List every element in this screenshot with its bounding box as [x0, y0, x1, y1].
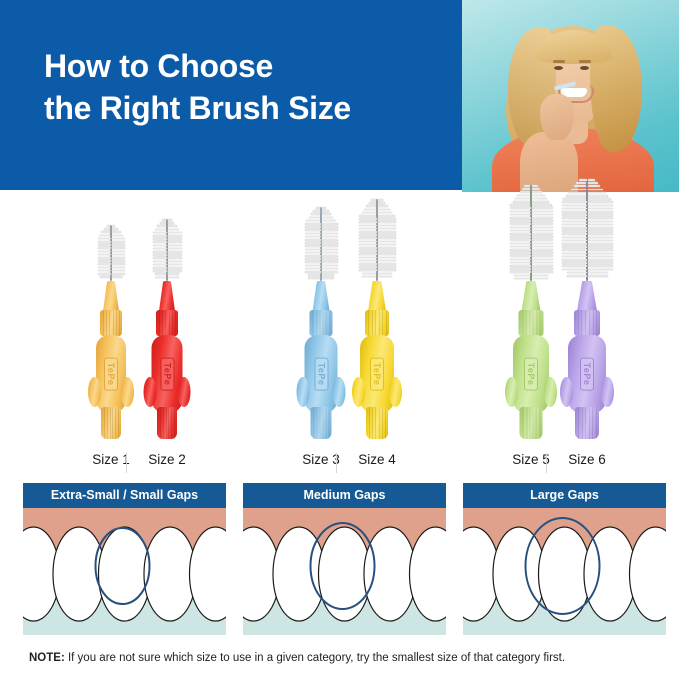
bristle-filament: [322, 236, 338, 238]
bristle-filament: [322, 274, 335, 276]
bristle-filament: [510, 252, 531, 254]
bristle-filament: [517, 195, 530, 197]
bristle-filament: [359, 234, 377, 236]
rib-line: [578, 310, 579, 336]
bristle-filament: [588, 224, 613, 226]
bristle-filament: [562, 243, 587, 245]
bristle-filament: [366, 205, 376, 207]
bristle-filament: [588, 265, 613, 267]
bristle-filament: [579, 179, 587, 181]
bristle-filament: [532, 275, 549, 277]
bristle-filament: [571, 189, 586, 191]
bristle-filament: [168, 241, 182, 243]
bristle-filament: [378, 228, 396, 230]
bristle-filament: [153, 248, 167, 250]
bristle-filament: [588, 243, 613, 245]
rib-line: [596, 310, 597, 336]
bristle-filament: [153, 254, 167, 256]
rib-line: [159, 310, 160, 336]
rib-line: [317, 407, 318, 439]
bristle-filament: [562, 256, 587, 258]
gap-panel-2[interactable]: Medium Gaps: [243, 483, 446, 635]
bristle-filament: [168, 225, 177, 227]
bristle-filament: [98, 263, 111, 265]
bristle-filament: [562, 230, 587, 232]
rib-line: [592, 407, 593, 439]
teeth-gap-diagram: [463, 508, 666, 635]
brush-size-6[interactable]: TePe: [550, 179, 624, 447]
bristle-filament: [515, 198, 531, 200]
bristle-filament: [98, 260, 111, 262]
bristle-filament: [510, 233, 531, 235]
bristle-filament: [378, 241, 396, 243]
page-title-line-2: the Right Brush Size: [44, 88, 444, 130]
bristle-filament: [112, 228, 118, 230]
bristle-filament: [155, 277, 166, 279]
bristle-filament: [311, 213, 320, 215]
rib-line: [369, 407, 370, 439]
bristle-filament: [168, 267, 182, 269]
rib-line: [314, 407, 315, 439]
rib-line: [536, 310, 537, 336]
bristle-filament: [322, 223, 338, 225]
bristle-filament: [562, 221, 587, 223]
bristle-filament: [309, 217, 321, 219]
gap-panel-header: Extra-Small / Small Gaps: [23, 483, 226, 508]
bristle-filament: [522, 188, 531, 190]
rib-line: [382, 310, 383, 336]
rib-line: [163, 407, 164, 439]
brush-grip-ribs-lower: [157, 407, 177, 439]
bristle-filament: [112, 267, 125, 269]
bristle-filament: [566, 195, 587, 197]
bristle-filament: [153, 235, 167, 237]
bristle-filament: [562, 201, 587, 203]
bristle-filament: [562, 214, 587, 216]
bristle-filament: [157, 225, 166, 227]
bristle-filament: [359, 218, 377, 220]
bristle-filament: [364, 209, 377, 211]
teeth-gap-diagram: [243, 508, 446, 635]
bristle-filament: [104, 228, 110, 230]
bristle-filament: [153, 257, 167, 259]
bristle-filament: [168, 245, 182, 247]
bristle-filament: [305, 268, 321, 270]
bristle-filament: [153, 267, 167, 269]
bristle-filament: [510, 223, 531, 225]
brush-handle: TePe: [346, 281, 408, 447]
bristle-filament: [369, 202, 377, 204]
rib-line: [319, 310, 320, 336]
brush-body-wing: [297, 377, 310, 407]
bristle-filament: [112, 263, 125, 265]
bristle-filament: [378, 218, 396, 220]
rib-line: [382, 407, 383, 439]
bristle-filament: [510, 249, 531, 251]
bristle-filament: [308, 277, 321, 279]
bristle-filament: [532, 278, 549, 280]
bristle-filament: [514, 275, 531, 277]
brush-size-4[interactable]: TePe: [340, 199, 414, 447]
bristle-filament: [378, 199, 383, 201]
bristle-filament: [562, 253, 587, 255]
rib-line: [110, 407, 111, 439]
bristle-filament: [101, 231, 110, 233]
rib-line: [329, 310, 330, 336]
bristle-filament: [153, 251, 167, 253]
bristle-filament: [588, 275, 608, 277]
size-label-6: Size 6: [550, 452, 624, 467]
bristle-filament: [562, 233, 587, 235]
bristle-filament: [98, 257, 111, 259]
brush-neck-cone: [368, 281, 386, 311]
size-label-divider: [126, 453, 127, 473]
bristle-filament: [322, 268, 338, 270]
rib-line: [109, 310, 110, 336]
tooth: [364, 527, 416, 621]
brush-neck-cone: [313, 281, 330, 311]
bristle-filament: [155, 273, 166, 275]
brush-grip-ribs-lower: [575, 407, 599, 439]
gap-panel-3[interactable]: Large Gaps: [463, 483, 666, 635]
bristle-filament: [588, 233, 613, 235]
bristle-filament: [112, 241, 125, 243]
bristle-filament: [588, 189, 603, 191]
bristle-filament: [168, 219, 172, 221]
bristle-filament: [168, 238, 182, 240]
hero-photo: [462, 0, 679, 192]
bristle-filament: [305, 223, 321, 225]
rib-line: [385, 407, 386, 439]
bristle-filament: [510, 227, 531, 229]
note-prefix: NOTE:: [29, 652, 65, 664]
rib-line: [323, 310, 324, 336]
bristle-filament: [313, 210, 320, 212]
brush-lineup: TePeTePeTePeTePeTePeTePe: [0, 192, 679, 447]
bristle-filament: [305, 236, 321, 238]
gap-category-panels: Extra-Small / Small GapsMedium GapsLarge…: [0, 483, 679, 638]
bristle-filament: [168, 261, 182, 263]
bristle-filament: [588, 230, 613, 232]
brush-grip-ribs-lower: [366, 407, 388, 439]
bristle-filament: [562, 211, 587, 213]
bristle-filament: [562, 262, 587, 264]
brush-bristles: [151, 219, 183, 281]
bristle-filament: [574, 185, 587, 187]
bristle-filament: [322, 261, 338, 263]
rib-line: [523, 407, 524, 439]
tepe-logo: TePe: [524, 358, 538, 391]
bristle-filament: [378, 215, 395, 217]
bristle-filament: [98, 244, 111, 246]
bristle-filament: [532, 195, 545, 197]
tepe-logo: TePe: [104, 358, 118, 391]
rib-line: [115, 407, 116, 439]
bristle-filament: [305, 255, 321, 257]
page-title-line-1: How to Choose: [44, 46, 444, 88]
bristle-filament: [562, 208, 587, 210]
bristle-filament: [562, 249, 587, 251]
brush-bristles: [560, 179, 614, 281]
bristle-filament: [378, 250, 396, 252]
bristle-filament: [514, 278, 531, 280]
page-title: How to Choose the Right Brush Size: [44, 46, 444, 129]
tooth: [53, 527, 105, 621]
rib-line: [526, 310, 527, 336]
bristle-filament: [153, 270, 167, 272]
rib-line: [589, 407, 590, 439]
bristle-filament: [510, 214, 531, 216]
bristle-filament: [532, 188, 541, 190]
rib-line: [375, 310, 376, 336]
bristle-filament: [305, 258, 321, 260]
bristle-filament: [567, 272, 587, 274]
bristle-filament: [510, 246, 531, 248]
rib-line: [533, 407, 534, 439]
brush-grip-ribs-lower: [311, 407, 332, 439]
rib-line: [596, 407, 597, 439]
bristle-filament: [359, 244, 377, 246]
bristle-filament: [588, 240, 613, 242]
brush-body-wing: [505, 377, 518, 407]
brush-grip-ribs-upper: [574, 310, 600, 336]
bristle-filament: [112, 244, 125, 246]
bristle-filament: [588, 217, 613, 219]
bristle-filament: [153, 245, 167, 247]
bristle-filament: [305, 265, 321, 267]
rib-line: [169, 310, 170, 336]
bristle-filament: [510, 220, 531, 222]
bristle-filament: [322, 207, 327, 209]
bristle-filament: [510, 268, 531, 270]
bristle-filament: [112, 238, 125, 240]
brush-neck-cone: [103, 281, 119, 311]
brush-grip-ribs-lower: [101, 407, 121, 439]
rib-line: [103, 310, 104, 336]
tepe-logo: TePe: [370, 358, 384, 391]
bristle-filament: [112, 231, 121, 233]
bristle-filament: [98, 267, 111, 269]
brush-body: TePe: [513, 335, 549, 413]
bristle-filament: [305, 252, 321, 254]
rib-line: [539, 407, 540, 439]
bristle-filament: [362, 212, 377, 214]
bristle-filament: [359, 260, 377, 262]
brush-body: TePe: [568, 335, 606, 413]
bristle-filament: [168, 251, 182, 253]
bristle-filament: [562, 217, 587, 219]
bristle-filament: [378, 209, 391, 211]
bristle-filament: [588, 253, 613, 255]
bristle-filament: [112, 270, 125, 272]
bristle-filament: [112, 247, 125, 249]
bristle-filament: [112, 225, 116, 227]
bristle-filament: [588, 259, 613, 261]
rib-line: [116, 310, 117, 336]
bristle-filament: [510, 271, 531, 273]
brush-grip-ribs-upper: [156, 310, 178, 336]
bristle-filament: [322, 252, 338, 254]
bristle-filament: [513, 201, 531, 203]
bristle-filament: [562, 227, 587, 229]
bristle-filament: [155, 229, 167, 231]
bristle-filament: [562, 265, 587, 267]
rib-line: [581, 310, 582, 336]
bristle-filament: [562, 259, 587, 261]
bristle-filament: [160, 222, 167, 224]
bristle-filament: [322, 226, 338, 228]
rib-line: [166, 407, 167, 439]
bristle-filament: [510, 259, 531, 261]
rib-line: [368, 310, 369, 336]
bristle-filament: [532, 185, 538, 187]
bristle-filament: [168, 277, 179, 279]
bristle-filament: [107, 225, 111, 227]
bristle-filament: [99, 235, 111, 237]
bristle-filament: [308, 274, 321, 276]
brush-bristles: [303, 207, 339, 281]
rib-line: [175, 310, 176, 336]
bristle-filament: [532, 191, 543, 193]
gap-panel-1[interactable]: Extra-Small / Small Gaps: [23, 483, 226, 635]
bristle-filament: [378, 273, 392, 275]
bristle-filament: [168, 248, 182, 250]
eye-right: [580, 66, 589, 70]
brush-size-2[interactable]: TePe: [130, 219, 204, 447]
bristle-filament: [359, 263, 377, 265]
rib-line: [165, 310, 166, 336]
bristle-filament: [378, 257, 396, 259]
bristle-filament: [305, 239, 321, 241]
bristle-filament: [510, 243, 531, 245]
bristle-filament: [153, 241, 167, 243]
brush-body-wing: [88, 377, 101, 407]
bristle-filament: [378, 234, 396, 236]
bristle-filament: [562, 205, 587, 207]
bristle-filament: [112, 257, 125, 259]
teeth-gap-diagram: [23, 508, 226, 635]
bristle-filament: [322, 265, 338, 267]
bristle-filament: [378, 244, 396, 246]
bristle-filament: [359, 241, 377, 243]
bristle-filament: [112, 251, 125, 253]
bristle-filament: [305, 271, 321, 273]
bristle-filament: [378, 247, 396, 249]
bristle-filament: [588, 249, 613, 251]
tepe-logo: TePe: [580, 358, 594, 391]
bristle-filament: [168, 229, 180, 231]
bristle-filament: [588, 182, 598, 184]
bristle-filament: [371, 199, 376, 201]
bristle-filament: [359, 228, 377, 230]
bristle-filament: [112, 235, 124, 237]
bristle-filament: [162, 219, 166, 221]
brush-grip-ribs-upper: [100, 310, 122, 336]
bristle-filament: [588, 179, 596, 181]
rib-line: [112, 407, 113, 439]
bristle-filament: [322, 220, 336, 222]
rib-line: [526, 407, 527, 439]
bristle-filament: [359, 221, 377, 223]
rib-line: [372, 407, 373, 439]
brush-grip-ribs-lower: [520, 407, 543, 439]
bristle-filament: [112, 273, 125, 275]
bristle-filament: [305, 261, 321, 263]
bristle-filament: [98, 273, 111, 275]
bristle-filament: [306, 220, 320, 222]
bristle-filament: [562, 269, 587, 271]
gap-panel-title: Large Gaps: [463, 483, 666, 508]
bristle-filament: [524, 185, 530, 187]
bristle-filament: [359, 257, 377, 259]
rib-line: [118, 407, 119, 439]
brush-body-wing: [560, 377, 573, 407]
bristle-filament: [168, 235, 182, 237]
rib-line: [320, 407, 321, 439]
bristle-filament: [532, 204, 552, 206]
bristle-filament: [359, 225, 377, 227]
bristle-filament: [510, 255, 531, 257]
rib-line: [589, 310, 590, 336]
brush-neck-cone: [159, 281, 175, 311]
bristle-filament: [98, 270, 111, 272]
brush-body: TePe: [152, 335, 183, 413]
footer-note: NOTE: If you are not sure which size to …: [29, 652, 659, 664]
bristle-filament: [98, 251, 111, 253]
rib-line: [168, 407, 169, 439]
bristle-filament: [588, 195, 609, 197]
bristle-filament: [588, 237, 613, 239]
bristle-filament: [359, 269, 377, 271]
bristle-filament: [510, 204, 530, 206]
gap-panel-header: Large Gaps: [463, 483, 666, 508]
bristle-filament: [588, 246, 613, 248]
bristle-filament: [305, 226, 321, 228]
bristle-filament: [510, 217, 531, 219]
bristle-filament: [359, 250, 377, 252]
brush-bristles: [357, 199, 397, 281]
tooth: [493, 527, 545, 621]
bristle-filament: [588, 211, 613, 213]
bristle-filament: [378, 237, 396, 239]
bristle-filament: [153, 264, 167, 266]
rib-line: [585, 310, 586, 336]
bristle-filament: [322, 271, 338, 273]
bristle-filament: [322, 210, 329, 212]
size-label-divider: [336, 453, 337, 473]
size-label-row: Size 1Size 2Size 3Size 4Size 5Size 6: [0, 452, 679, 476]
bristle-filament: [588, 192, 606, 194]
bristle-filament: [322, 245, 338, 247]
bristle-filament: [362, 273, 376, 275]
brush-body: TePe: [360, 335, 394, 413]
bristle-filament: [98, 247, 111, 249]
rib-line: [529, 407, 530, 439]
rib-line: [160, 407, 161, 439]
rib-line: [375, 407, 376, 439]
size-label-2: Size 2: [130, 452, 204, 467]
brush-handle: TePe: [554, 281, 620, 447]
tooth: [319, 527, 371, 621]
bristle-filament: [532, 198, 548, 200]
eyebrow-right: [579, 60, 591, 63]
bristle-filament: [168, 254, 182, 256]
bristle-filament: [510, 262, 531, 264]
brush-body-wing: [144, 377, 157, 407]
rib-line: [326, 310, 327, 336]
bristle-filament: [98, 254, 111, 256]
bristle-filament: [378, 263, 396, 265]
